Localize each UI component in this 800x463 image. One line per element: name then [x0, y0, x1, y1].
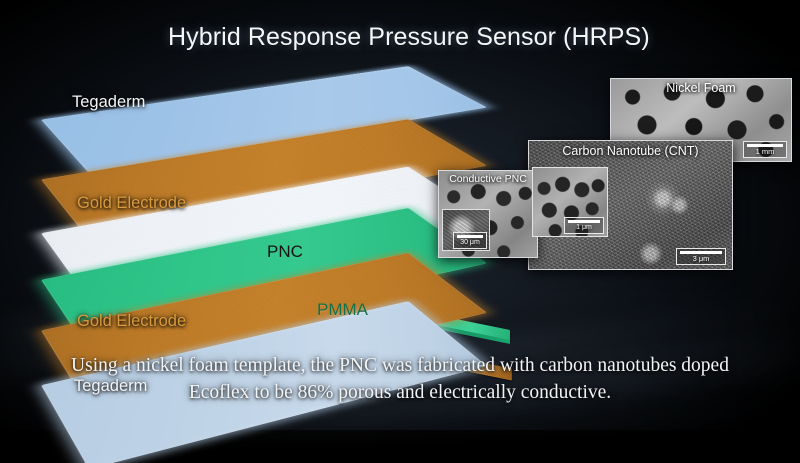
scale-bar-label: 1 μm — [576, 224, 592, 232]
label-tegaderm-top: Tegaderm — [72, 93, 145, 112]
sem-subinset-carbon-nanotube: 1 μm — [532, 167, 608, 237]
sem-caption-nickel-foam: Nickel Foam — [611, 81, 791, 95]
scale-bar-label: 30 μm — [460, 239, 480, 247]
caption-line-2: Ecoflex to be 86% porous and electricall… — [24, 379, 776, 406]
scale-bar-pnc-subinset: 30 μm — [453, 232, 487, 249]
sem-caption-carbon-nanotube: Carbon Nanotube (CNT) — [529, 144, 732, 158]
scale-bar-label: 3 μm — [693, 255, 710, 263]
scale-bar-nickel-foam: 1 mm — [743, 141, 787, 158]
label-gold-electrode-bottom: Gold Electrode — [77, 312, 186, 331]
sem-inset-carbon-nanotube: Carbon Nanotube (CNT) 1 μm 3 μm — [528, 140, 733, 270]
scale-bar-cnt-subinset: 1 μm — [564, 217, 604, 234]
sem-subinset-conductive-pnc: 30 μm — [442, 209, 490, 251]
scale-bar-line — [457, 235, 483, 238]
label-pnc: PNC — [267, 242, 303, 262]
label-pmma: PMMA — [317, 300, 368, 320]
sem-inset-conductive-pnc: Conductive PNC 30 μm — [438, 170, 538, 258]
scale-bar-line — [568, 220, 600, 223]
sem-caption-conductive-pnc: Conductive PNC — [439, 173, 537, 185]
figure-canvas: { "figure": { "title": "Hybrid Response … — [0, 0, 800, 430]
scale-bar-carbon-nanotube: 3 μm — [676, 248, 726, 265]
figure-caption: Using a nickel foam template, the PNC wa… — [0, 352, 800, 406]
label-gold-electrode-top: Gold Electrode — [77, 194, 186, 213]
caption-line-1: Using a nickel foam template, the PNC wa… — [24, 352, 776, 379]
scale-bar-label: 1 mm — [756, 148, 775, 156]
